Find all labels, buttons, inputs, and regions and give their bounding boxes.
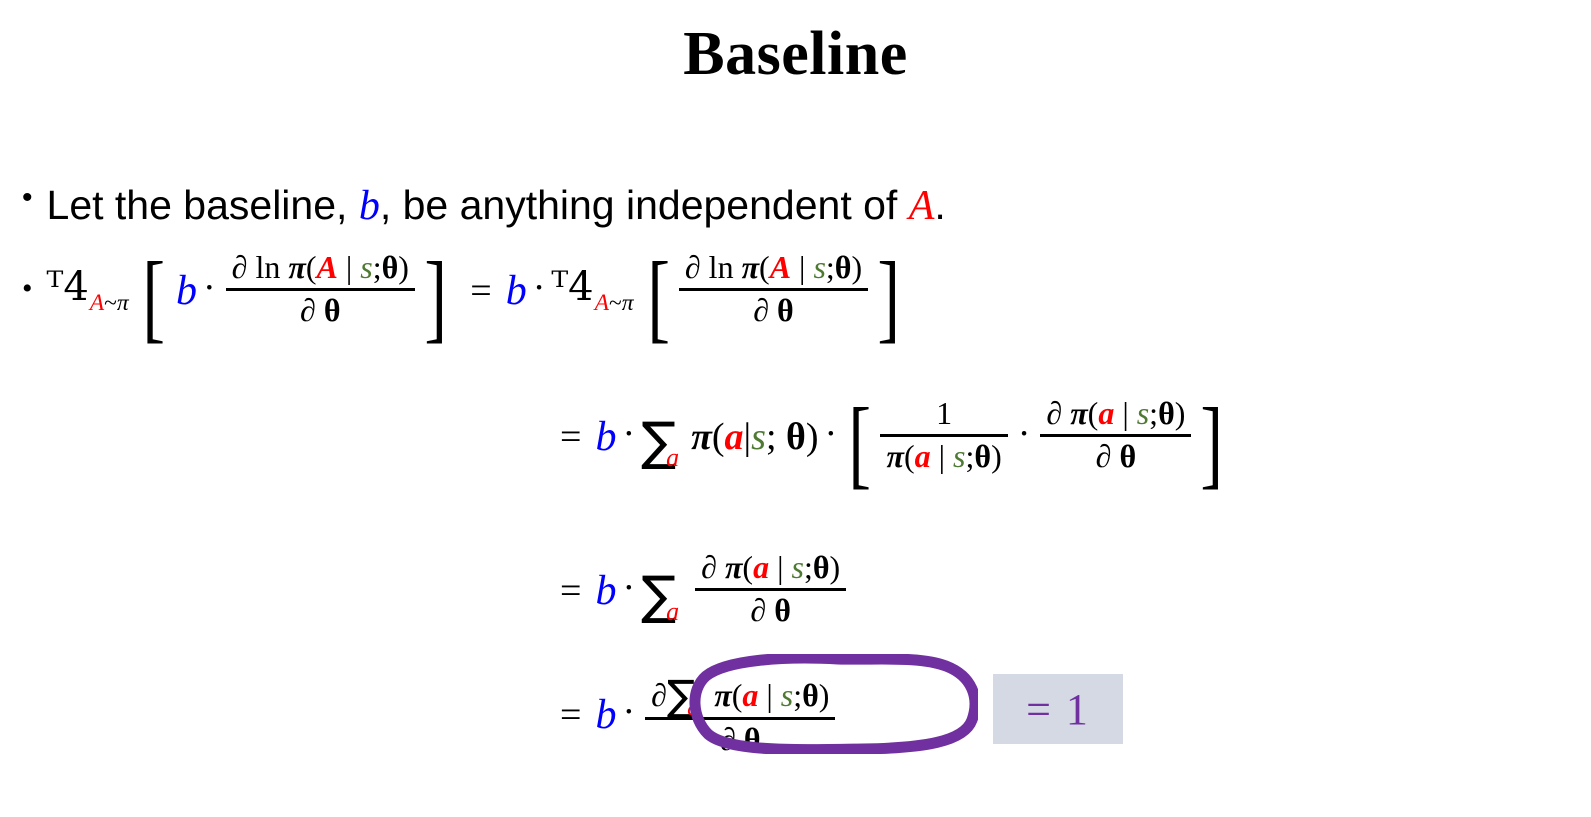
fraction-denominator: ∂ θ xyxy=(744,593,797,629)
conditional-bar: | xyxy=(1122,395,1128,431)
subscript-tilde: ~ xyxy=(104,290,117,316)
fraction-bar xyxy=(226,288,415,291)
summation-operator: ∑a xyxy=(667,677,706,713)
ln-symbol: ln xyxy=(255,249,280,285)
fraction-dlnpi-dtheta: ∂ ln π(A | s;θ) ∂ θ xyxy=(226,250,415,329)
state-symbol: s xyxy=(953,438,965,474)
partial-symbol: ∂ xyxy=(685,249,701,285)
dot-operator: · xyxy=(616,415,641,453)
action-symbol: A xyxy=(770,249,791,285)
paren-close: ) xyxy=(991,438,1002,474)
subscript-action: A xyxy=(90,290,104,316)
fraction-bar xyxy=(1040,434,1191,437)
policy-term: π(a|s; θ) xyxy=(691,418,818,456)
paren-close: ) xyxy=(819,677,830,713)
equation-line-1: • ᵀ4A~π [ b · ∂ ln π(A | s;θ) ∂ θ ] = b … xyxy=(22,252,905,331)
fraction-dlnpi-dtheta: ∂ ln π(A | s;θ) ∂ θ xyxy=(679,250,868,329)
conditional-bar: | xyxy=(799,249,805,285)
expectation-operator: ᵀ4A~π xyxy=(551,267,633,315)
theta-symbol: θ xyxy=(835,249,852,285)
equals-sign: = xyxy=(470,272,491,310)
fraction-numerator: ∂ π(a | s;θ) xyxy=(695,550,846,586)
bullet-1-text: Let the baseline, b, be anything indepen… xyxy=(47,182,946,230)
state-symbol: s xyxy=(791,549,803,585)
bullet-1-seg-2: , be anything independent of xyxy=(380,182,909,228)
pi-symbol: π xyxy=(691,416,712,458)
baseline-symbol-b: b xyxy=(595,570,616,612)
dot-operator: · xyxy=(819,415,844,453)
action-symbol: a xyxy=(753,549,769,585)
paren-open: ( xyxy=(712,416,725,458)
semicolon: ; xyxy=(766,416,777,458)
subscript-pi: π xyxy=(117,290,129,316)
summation-operator: ∑a xyxy=(641,565,689,617)
state-symbol: s xyxy=(813,249,825,285)
theta-symbol: θ xyxy=(786,416,806,458)
slide-body: • Let the baseline, b, be anything indep… xyxy=(0,160,1591,817)
equals-sign: = xyxy=(560,572,581,610)
baseline-symbol-b: b xyxy=(506,270,527,312)
sum-index: a xyxy=(687,695,698,720)
state-symbol: s xyxy=(360,249,372,285)
sum-index: a xyxy=(666,597,679,626)
paren-close: ) xyxy=(851,249,862,285)
partial-symbol: ∂ xyxy=(232,249,248,285)
dot-operator: · xyxy=(527,269,552,307)
conditional-bar: | xyxy=(346,249,352,285)
fraction-one-over-pi: 1 π(a | s;θ) xyxy=(880,396,1007,475)
action-symbol: a xyxy=(742,677,758,713)
paren-open: ( xyxy=(759,249,770,285)
ln-symbol: ln xyxy=(709,249,734,285)
conditional-bar: | xyxy=(744,416,752,458)
fraction-dpi-dtheta: ∂ π(a | s;θ) ∂ θ xyxy=(695,550,846,629)
expectation-subscript: A~π xyxy=(90,290,129,316)
theta-symbol: θ xyxy=(777,292,794,328)
paren-open: ( xyxy=(742,549,753,585)
theta-symbol: θ xyxy=(1158,395,1175,431)
sum-index: a xyxy=(666,443,679,472)
equation-line-3: = b · ∑a ∂ π(a | s;θ) ∂ θ xyxy=(560,552,850,631)
action-symbol: a xyxy=(1098,395,1114,431)
paren-close: ) xyxy=(398,249,409,285)
dot-operator: · xyxy=(616,569,641,607)
fraction-denominator: ∂ θ xyxy=(747,293,800,329)
subscript-action: A xyxy=(595,290,609,316)
equals-sign: = xyxy=(560,418,581,456)
partial-symbol: ∂ xyxy=(300,292,316,328)
semicolon: ; xyxy=(373,249,382,285)
semicolon: ; xyxy=(1149,395,1158,431)
pi-symbol: π xyxy=(714,677,731,713)
partial-symbol: ∂ xyxy=(701,549,717,585)
partial-symbol: ∂ xyxy=(720,721,736,757)
action-symbol: A xyxy=(317,249,338,285)
theta-symbol: θ xyxy=(813,549,830,585)
callout-equals-one: = 1 xyxy=(993,674,1123,744)
partial-symbol: ∂ xyxy=(1096,438,1112,474)
subscript-tilde: ~ xyxy=(609,290,622,316)
semicolon: ; xyxy=(826,249,835,285)
action-symbol: a xyxy=(725,416,744,458)
fraction-dpi-dtheta: ∂ π(a | s;θ) ∂ θ xyxy=(1040,396,1191,475)
fraction-bar xyxy=(679,288,868,291)
dot-operator: · xyxy=(616,693,641,731)
expectation-symbol: ᵀ4 xyxy=(551,264,593,310)
pi-symbol: π xyxy=(725,549,742,585)
state-symbol: s xyxy=(751,416,766,458)
partial-symbol: ∂ xyxy=(651,677,667,713)
theta-symbol: θ xyxy=(802,677,819,713)
partial-symbol: ∂ xyxy=(1046,395,1062,431)
partial-symbol: ∂ xyxy=(753,292,769,328)
theta-symbol: θ xyxy=(324,292,341,328)
theta-symbol: θ xyxy=(1119,438,1136,474)
bullet-marker-icon: • xyxy=(22,181,33,216)
theta-symbol: θ xyxy=(744,721,761,757)
bullet-1-seg-0: Let the baseline, xyxy=(47,182,359,228)
state-symbol: s xyxy=(1137,395,1149,431)
fraction-numerator: ∂∑a π(a | s;θ) xyxy=(645,668,835,715)
baseline-symbol-b: b xyxy=(176,270,197,312)
conditional-bar: | xyxy=(766,677,772,713)
bullet-1-symbol-b: b xyxy=(359,183,380,229)
fraction-denominator: ∂ θ xyxy=(1090,439,1143,475)
theta-symbol: θ xyxy=(774,592,791,628)
conditional-bar: | xyxy=(777,549,783,585)
pi-symbol: π xyxy=(1070,395,1087,431)
fraction-numerator: ∂ π(a | s;θ) xyxy=(1040,396,1191,432)
paren-close: ) xyxy=(830,549,841,585)
semicolon: ; xyxy=(804,549,813,585)
conditional-bar: | xyxy=(939,438,945,474)
paren-close: ) xyxy=(1175,395,1186,431)
fraction-numerator: 1 xyxy=(930,396,958,432)
pi-symbol: π xyxy=(288,249,305,285)
fraction-denominator: ∂ θ xyxy=(294,293,347,329)
fraction-dsumpi-dtheta: ∂∑a π(a | s;θ) ∂ θ xyxy=(645,668,835,758)
equation-line-2: = b · ∑a π(a|s; θ) · [ 1 π(a | s;θ) · ∂ … xyxy=(560,398,1229,477)
bullet-marker-icon: • xyxy=(22,274,33,304)
fraction-denominator: π(a | s;θ) xyxy=(880,439,1007,475)
theta-symbol: θ xyxy=(974,438,991,474)
subscript-pi: π xyxy=(622,290,634,316)
paren-close: ) xyxy=(806,416,819,458)
pi-symbol: π xyxy=(742,249,759,285)
paren-open: ( xyxy=(1088,395,1099,431)
baseline-symbol-b: b xyxy=(595,694,616,736)
fraction-numerator: ∂ ln π(A | s;θ) xyxy=(679,250,868,286)
dot-operator: · xyxy=(1012,415,1037,453)
page-title: Baseline xyxy=(0,22,1591,87)
expectation-symbol: ᵀ4 xyxy=(47,264,89,310)
fraction-numerator: ∂ ln π(A | s;θ) xyxy=(226,250,415,286)
equation-line-4: = b · ∂∑a π(a | s;θ) ∂ θ xyxy=(560,670,839,760)
partial-symbol: ∂ xyxy=(750,592,766,628)
fraction-denominator: ∂ θ xyxy=(714,722,767,758)
state-symbol: s xyxy=(781,677,793,713)
dot-operator: · xyxy=(197,269,222,307)
theta-symbol: θ xyxy=(382,249,399,285)
expectation-subscript: A~π xyxy=(595,290,634,316)
fraction-bar xyxy=(695,588,846,591)
bullet-item-1: • Let the baseline, b, be anything indep… xyxy=(22,182,946,230)
paren-open: ( xyxy=(306,249,317,285)
summation-operator: ∑a xyxy=(641,411,689,463)
baseline-symbol-b: b xyxy=(595,416,616,458)
bullet-1-symbol-A: A xyxy=(909,183,935,229)
expectation-operator: ᵀ4A~π xyxy=(47,267,129,315)
pi-symbol: π xyxy=(886,438,903,474)
bullet-1-seg-4: . xyxy=(934,182,945,228)
action-symbol: a xyxy=(915,438,931,474)
semicolon: ; xyxy=(793,677,802,713)
paren-open: ( xyxy=(904,438,915,474)
callout-text: = 1 xyxy=(1026,684,1090,735)
paren-open: ( xyxy=(732,677,743,713)
fraction-bar xyxy=(880,434,1007,437)
equals-sign: = xyxy=(560,696,581,734)
